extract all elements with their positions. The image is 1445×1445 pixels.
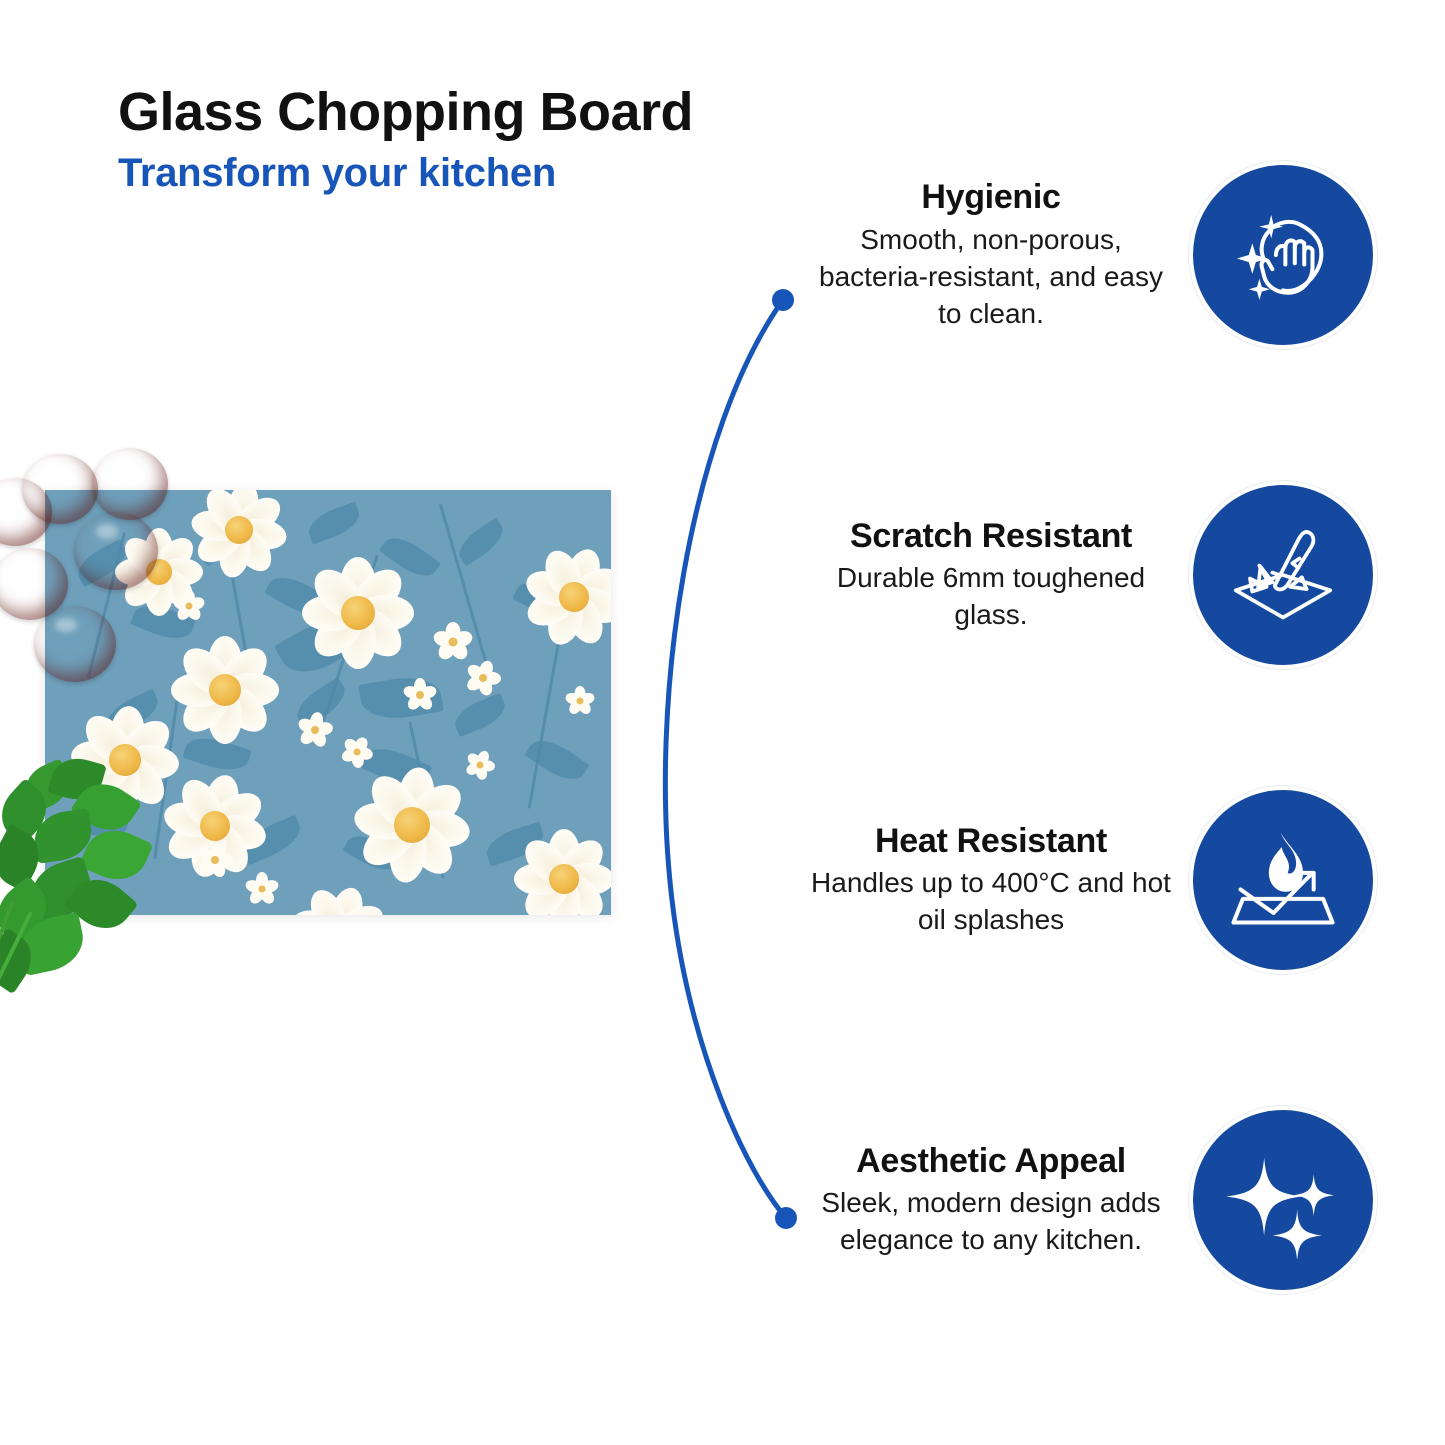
feature-description: Smooth, non-porous, bacteria-resistant, … xyxy=(805,222,1177,333)
cherry-tomato xyxy=(34,606,116,682)
page-subtitle: Transform your kitchen xyxy=(118,150,693,196)
small-blossom xyxy=(341,736,373,768)
feature-heat-resistant[interactable]: Heat Resistant Handles up to 400°C and h… xyxy=(805,790,1375,970)
small-blossom xyxy=(433,622,473,662)
small-blossom xyxy=(197,842,233,878)
feature-title: Scratch Resistant xyxy=(805,516,1177,557)
daisy-flower xyxy=(293,548,423,678)
feature-text-block: Hygienic Smooth, non-porous, bacteria-re… xyxy=(805,177,1177,333)
feature-text-block: Heat Resistant Handles up to 400°C and h… xyxy=(805,821,1177,940)
cherry-tomato xyxy=(22,454,98,524)
daisy-flower xyxy=(505,820,611,915)
cherry-tomato xyxy=(92,448,168,520)
small-blossom xyxy=(245,872,279,906)
connector-dot-top xyxy=(772,289,794,311)
small-blossom xyxy=(565,686,595,716)
flame-deflect-arrow-icon xyxy=(1193,790,1373,970)
small-blossom xyxy=(173,590,205,622)
feature-hygienic[interactable]: Hygienic Smooth, non-porous, bacteria-re… xyxy=(805,165,1375,345)
infographic-page: Glass Chopping Board Transform your kitc… xyxy=(0,0,1445,1445)
product-image xyxy=(0,440,640,1000)
feature-title: Heat Resistant xyxy=(805,821,1177,862)
feature-scratch-resistant[interactable]: Scratch Resistant Durable 6mm toughened … xyxy=(805,485,1375,665)
feature-title: Aesthetic Appeal xyxy=(805,1141,1177,1182)
feature-description: Handles up to 400°C and hot oil splashes xyxy=(805,865,1177,939)
connector-dot-bottom xyxy=(775,1207,797,1229)
small-blossom xyxy=(403,678,437,712)
daisy-flower xyxy=(515,538,611,656)
feature-description: Sleek, modern design adds elegance to an… xyxy=(805,1185,1177,1259)
header: Glass Chopping Board Transform your kitc… xyxy=(118,82,693,196)
daisy-flower xyxy=(161,626,289,754)
parsley-garnish xyxy=(0,762,170,972)
hand-wiping-sparkle-icon xyxy=(1193,165,1373,345)
page-title: Glass Chopping Board xyxy=(118,82,693,142)
small-blossom xyxy=(297,712,333,748)
daisy-flower xyxy=(283,878,395,915)
sparkles-icon xyxy=(1193,1110,1373,1290)
feature-title: Hygienic xyxy=(805,177,1177,218)
feature-text-block: Aesthetic Appeal Sleek, modern design ad… xyxy=(805,1141,1177,1260)
small-blossom xyxy=(465,660,501,696)
knife-impact-surface-icon xyxy=(1193,485,1373,665)
feature-aesthetic-appeal[interactable]: Aesthetic Appeal Sleek, modern design ad… xyxy=(805,1110,1375,1290)
daisy-flower xyxy=(345,758,479,892)
daisy-flower xyxy=(183,490,295,586)
small-blossom xyxy=(465,750,495,780)
cherry-tomato xyxy=(74,512,158,590)
feature-description: Durable 6mm toughened glass. xyxy=(805,560,1177,634)
feature-text-block: Scratch Resistant Durable 6mm toughened … xyxy=(805,516,1177,635)
